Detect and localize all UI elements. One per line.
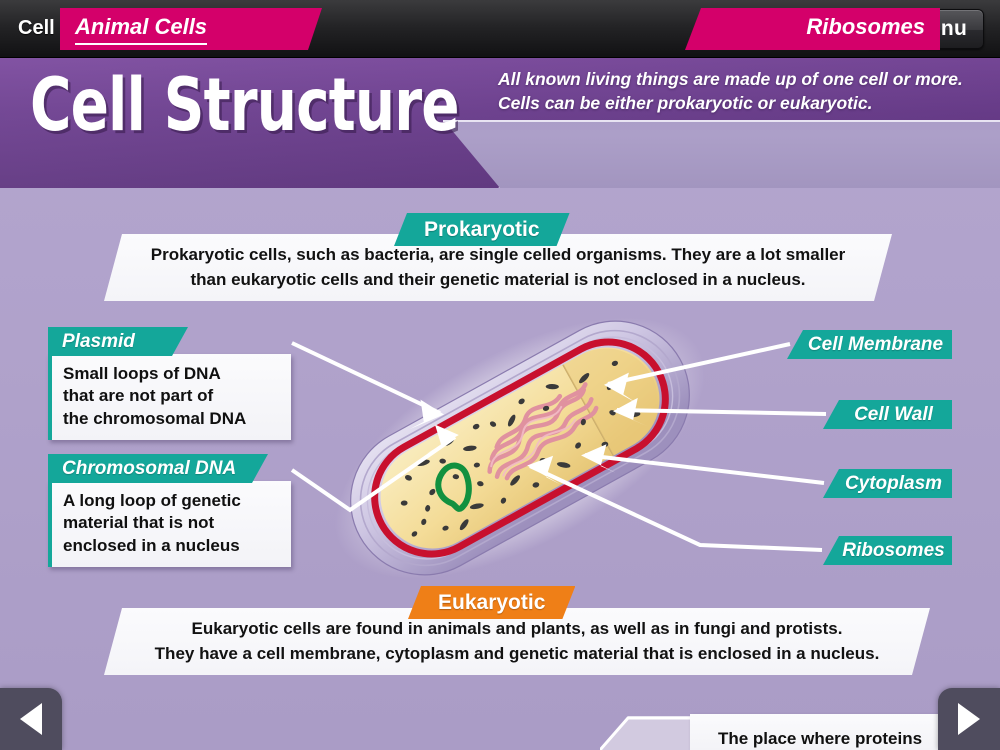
proka-line2: than eukaryotic cells and their genetic …: [190, 270, 805, 289]
section-panel-text: Prokaryotic cells, such as bacteria, are…: [151, 243, 846, 292]
euka-line2: They have a cell membrane, cytoplasm and…: [155, 644, 880, 663]
callout-text-plasmid: Small loops of DNA that are not part of …: [63, 363, 279, 430]
previous-button[interactable]: [0, 688, 62, 750]
callout-title-ribosomes: Ribosomes: [842, 540, 944, 562]
plasmid-line1: Small loops of DNA: [63, 364, 221, 383]
callout-cell-membrane[interactable]: Cell Membrane: [787, 330, 952, 359]
callout-title-cytoplasm: Cytoplasm: [845, 473, 942, 495]
section-tab-label-eukaryotic: Eukaryotic: [438, 591, 545, 615]
bottom-right-panel: The place where proteins: [690, 714, 950, 750]
plasmid-line2: that are not part of: [63, 386, 213, 405]
next-button[interactable]: [938, 688, 1000, 750]
callout-head-chromosomal-dna[interactable]: Chromosomal DNA: [48, 454, 268, 483]
callout-body-chromosomal-dna: A long loop of genetic material that is …: [48, 481, 291, 567]
callout-title-plasmid: Plasmid: [62, 331, 135, 353]
euka-line1: Eukaryotic cells are found in animals an…: [192, 619, 843, 638]
left-triangle-icon: [18, 702, 44, 736]
callout-cytoplasm[interactable]: Cytoplasm: [823, 469, 952, 498]
plasmid-line3: the chromosomal DNA: [63, 409, 246, 428]
app-screen: Cell Structure Menu Cell Structure All k…: [0, 0, 1000, 750]
bottom-right-panel-text: The place where proteins: [718, 729, 922, 749]
callout-head-plasmid[interactable]: Plasmid: [48, 327, 188, 356]
section-tab-prokaryotic: Prokaryotic: [394, 213, 570, 246]
callout-cell-wall[interactable]: Cell Wall: [823, 400, 952, 429]
dna-line1: A long loop of genetic: [63, 491, 241, 510]
callout-ribosomes[interactable]: Ribosomes: [823, 536, 952, 565]
callout-title-chromosomal-dna: Chromosomal DNA: [62, 458, 236, 480]
callout-body-plasmid: Small loops of DNA that are not part of …: [48, 354, 291, 440]
bacterium-body: [294, 265, 746, 632]
callout-title-cell-wall: Cell Wall: [854, 404, 933, 426]
dna-line2: material that is not: [63, 513, 214, 532]
dna-line3: enclosed in a nucleus: [63, 536, 240, 555]
section-panel-text-eukaryotic: Eukaryotic cells are found in animals an…: [155, 617, 880, 666]
right-triangle-icon: [956, 702, 982, 736]
proka-line1: Prokaryotic cells, such as bacteria, are…: [151, 245, 846, 264]
callout-title-cell-membrane: Cell Membrane: [808, 334, 943, 356]
callout-text-chromosomal-dna: A long loop of genetic material that is …: [63, 490, 279, 557]
section-tab-label: Prokaryotic: [424, 218, 540, 242]
section-tab-eukaryotic: Eukaryotic: [408, 586, 575, 619]
